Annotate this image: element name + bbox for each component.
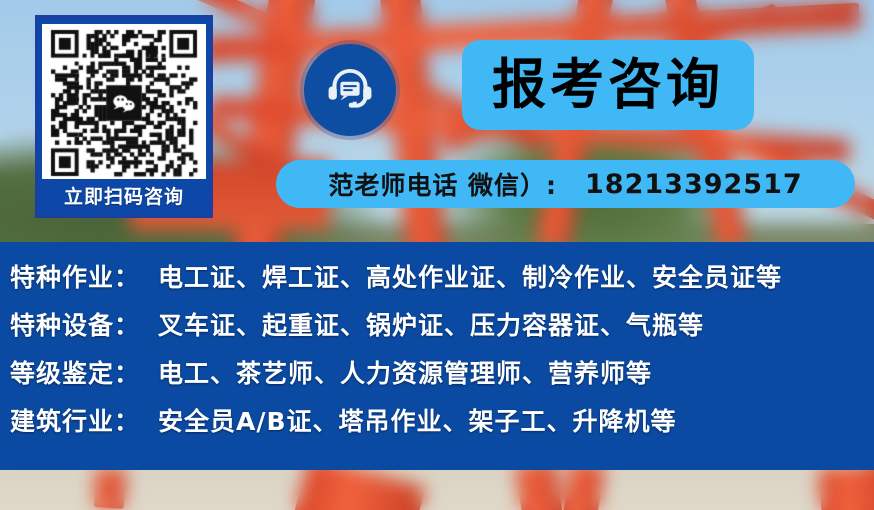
category-value: 叉车证、起重证、锅炉证、压力容器证、气瓶等: [158, 306, 704, 342]
category-value: 电工、茶艺师、人力资源管理师、营养师等: [158, 354, 652, 390]
contact-label: 范老师电话 微信）:: [328, 166, 557, 202]
category-label: 等级鉴定：: [10, 354, 140, 390]
contact-phone-number[interactable]: 18213392517: [585, 169, 803, 200]
category-label: 特种设备：: [10, 306, 140, 342]
category-value: 安全员A/B证、塔吊作业、架子工、升降机等: [158, 402, 677, 438]
category-label: 建筑行业：: [10, 402, 140, 438]
consult-registration-button[interactable]: 报考咨询: [462, 40, 754, 130]
category-row: 等级鉴定： 电工、茶艺师、人力资源管理师、营养师等: [10, 354, 874, 402]
category-value: 电工证、焊工证、高处作业证、制冷作业、安全员证等: [158, 258, 782, 294]
category-row: 建筑行业： 安全员A/B证、塔吊作业、架子工、升降机等: [10, 402, 874, 450]
qr-code-image[interactable]: [42, 24, 206, 179]
qr-caption: 立即扫码咨询: [44, 179, 204, 215]
headset-support-icon: [304, 44, 396, 136]
contact-phone-bar[interactable]: 范老师电话 微信）: 18213392517: [276, 160, 855, 208]
certificate-categories-panel: 特种作业： 电工证、焊工证、高处作业证、制冷作业、安全员证等 特种设备： 叉车证…: [0, 242, 874, 470]
consult-registration-label: 报考咨询: [492, 58, 724, 112]
category-row: 特种作业： 电工证、焊工证、高处作业证、制冷作业、安全员证等: [10, 258, 874, 306]
qr-code-card[interactable]: 立即扫码咨询: [35, 15, 213, 218]
category-label: 特种作业：: [10, 258, 140, 294]
category-row: 特种设备： 叉车证、起重证、锅炉证、压力容器证、气瓶等: [10, 306, 874, 354]
promo-poster: 立即扫码咨询 报考咨询 范老师电话 微信）: 18213392517: [0, 0, 874, 510]
qr-code-icon: [42, 24, 206, 179]
